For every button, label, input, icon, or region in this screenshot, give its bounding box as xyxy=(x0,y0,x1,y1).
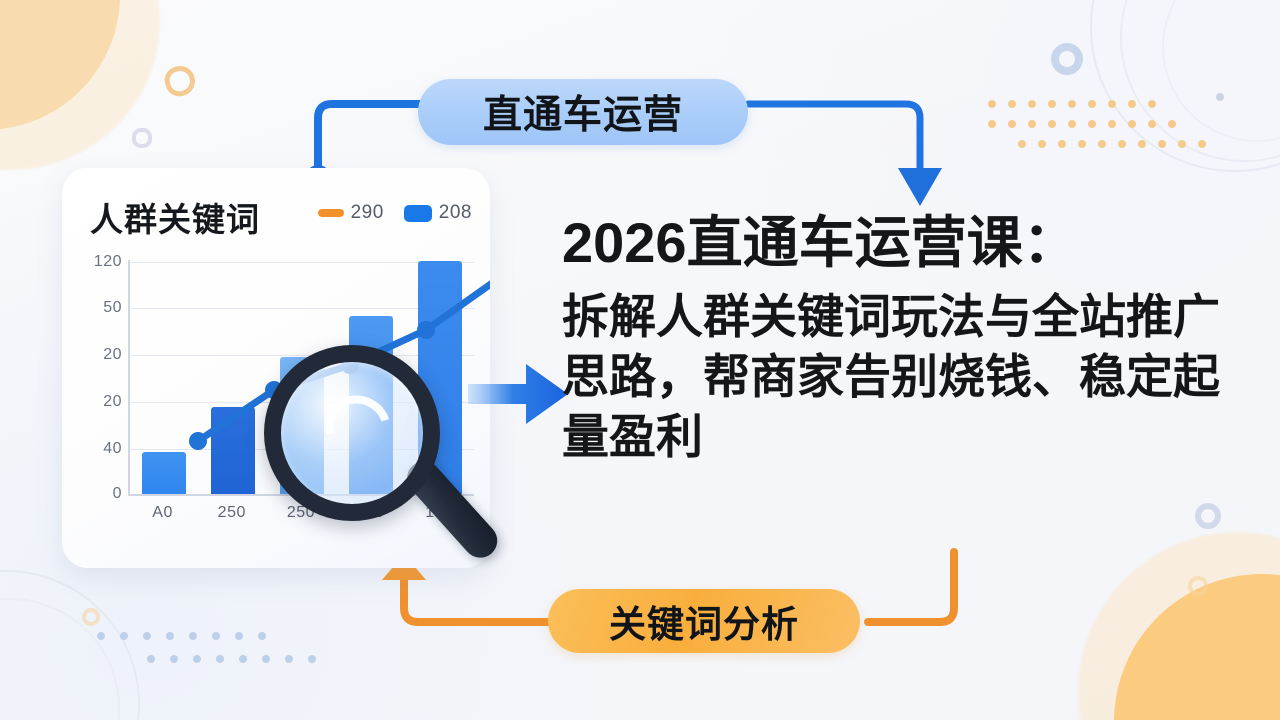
magnifier-glint xyxy=(314,384,401,470)
magnifier-icon xyxy=(264,345,472,553)
page-title: 2026直通车运营课： xyxy=(562,212,1236,275)
legend-label-line: 290 xyxy=(351,202,384,224)
chart-title: 人群关键词 xyxy=(90,193,260,241)
magnifier-lens xyxy=(264,345,440,521)
right-arrow-icon xyxy=(468,358,570,430)
page-subtitle: 拆解人群关键词玩法与全站推广思路，帮商家告别烧钱、稳定起量盈利 xyxy=(562,287,1230,467)
badge-bottom-label[interactable]: 关键词分析 xyxy=(548,589,860,653)
chart-legend: 290 208 xyxy=(318,202,472,224)
x-tick-0: A0 xyxy=(136,504,190,522)
y-tick-1: 50 xyxy=(103,299,122,317)
badge-top-label[interactable]: 直通车运营 xyxy=(418,79,748,145)
y-tick-2: 20 xyxy=(103,346,122,364)
legend-item-bar: 208 xyxy=(404,202,472,224)
y-tick-3: 20 xyxy=(103,393,122,411)
y-tick-4: 40 xyxy=(103,440,122,458)
legend-label-bar: 208 xyxy=(439,202,472,224)
legend-swatch-line-icon xyxy=(318,209,344,217)
y-tick-0: 120 xyxy=(94,253,122,271)
y-tick-5: 0 xyxy=(113,485,122,503)
legend-swatch-bar-icon xyxy=(404,205,432,222)
x-tick-1: 250 xyxy=(205,504,259,522)
poster-canvas: 直通车运营 人群关键词 290 208 120 50 20 20 40 0 xyxy=(0,0,1280,720)
chart-y-axis: 120 50 20 20 40 0 xyxy=(88,260,122,496)
text-block: 2026直通车运营课： 拆解人群关键词玩法与全站推广思路，帮商家告别烧钱、稳定起… xyxy=(562,212,1236,467)
legend-item-line: 290 xyxy=(318,202,384,224)
